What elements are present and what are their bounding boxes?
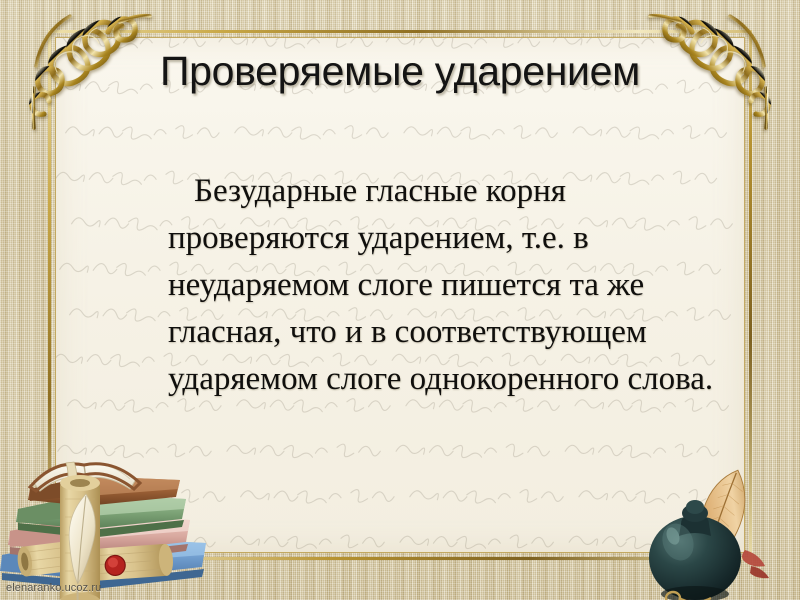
watermark-text: elenaranko.ucoz.ru xyxy=(6,582,101,594)
slide-root: Проверяемые ударением Безударные гласные… xyxy=(0,0,800,600)
page-title: Проверяемые ударением xyxy=(56,48,744,95)
body-paragraph: Безударные гласные корня проверяются уда… xyxy=(168,168,728,403)
